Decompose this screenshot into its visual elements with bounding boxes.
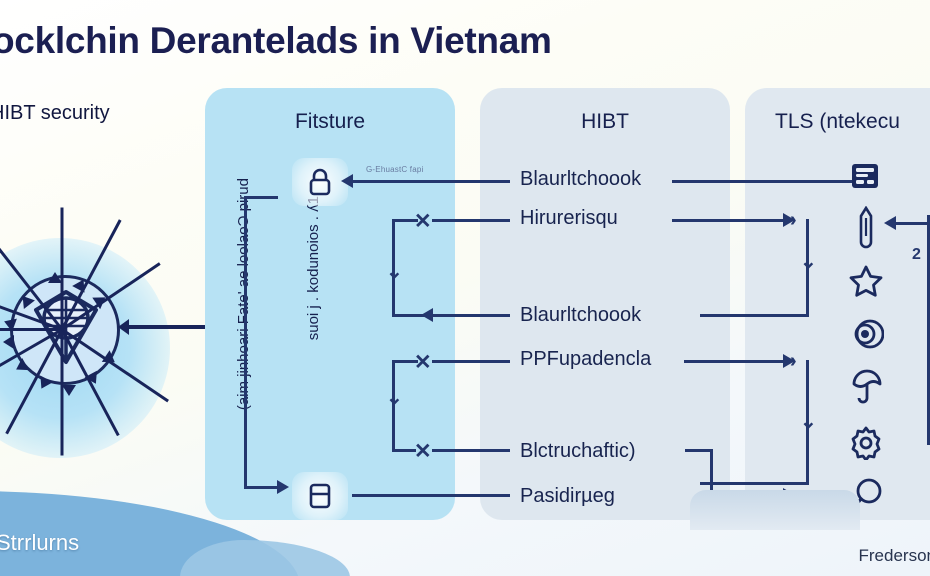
row-1-line-right [672,180,857,183]
row-3-arrow-left [432,314,510,317]
panel-fitsture-vertical-text-inner: suoi j . kodunoios . ʎ1 [305,196,322,340]
row-label-2: Hirurerisqu [520,207,618,230]
row-5-line-left [432,449,510,452]
x-marker-3: ✕ [414,441,432,462]
row-6-line-left [352,494,510,497]
row-label-6: Pasidirµeg [520,485,615,508]
row-4-line-left [432,360,510,363]
database-icon [308,482,332,510]
bracket-2-bottom [700,314,809,317]
row-label-1: Blaurltchoook [520,168,641,191]
bracket-3-bottom [392,449,416,452]
hub-spoke-head [62,385,76,396]
card-list-icon [850,162,880,195]
panel-hibt-title: HIBT [480,110,730,134]
chevron-right-icon-1: › [790,210,797,230]
panel-tls: TLS (ntekecu [745,88,930,520]
umbrella-icon [851,368,883,409]
row-1-arrow-left [352,180,510,183]
chevron-down-icon-2: ⌄ [800,252,817,272]
right-number-arrow [895,222,929,225]
row-4-line-right [684,360,784,363]
chevron-right-icon-2: › [790,351,797,371]
hub-spoke-head [3,335,14,349]
footer-right-label: Frederson [859,546,930,566]
panel-fitsture-title: Fitsture [205,110,455,134]
gear-icon [849,426,883,465]
padlock-icon [850,316,884,357]
lock-icon [307,167,333,197]
footer-blob [690,490,860,530]
row-5-line-right [685,449,713,452]
hub-spoke [0,328,62,331]
page-title: ocklchin Derantelads in Vietnam [0,20,552,62]
vtext-arrow-top [244,196,278,199]
vtext-arrow-bottom [244,486,278,489]
pen-icon [858,206,874,255]
bracket-3-top [392,360,418,363]
vtext-arrow-stem [244,196,247,488]
row-5-drop-stem [710,449,713,494]
footer-wave-label: Strrlurns [0,530,79,556]
panel-tls-title: TLS (ntekecu [775,110,900,134]
chevron-down-icon-1: ⌄ [386,262,403,282]
row-2-line-right [672,219,784,222]
row-label-3: Blaurltchoook [520,304,641,327]
hub-spoke [61,208,64,330]
lock-badge [292,158,348,206]
database-badge [292,472,348,520]
bracket-1-top [392,219,418,222]
right-number-label: 2 [912,246,921,264]
row-2-line-left [432,219,510,222]
hub-spoke-head [48,272,62,283]
chevron-down-icon-4: ⌄ [800,412,817,432]
top-arrow-note: G-EhuastC fapi [366,165,424,174]
row-label-5: Blctruchaftic) [520,440,636,463]
chevron-down-icon-3: ⌄ [386,388,403,408]
diagram-canvas: ocklchin Derantelads in Vietnam HIBT sec… [0,0,930,576]
hub-label: HIBT security [0,102,110,125]
star-icon [849,264,883,303]
row-label-4: PPFupadencla [520,348,651,371]
